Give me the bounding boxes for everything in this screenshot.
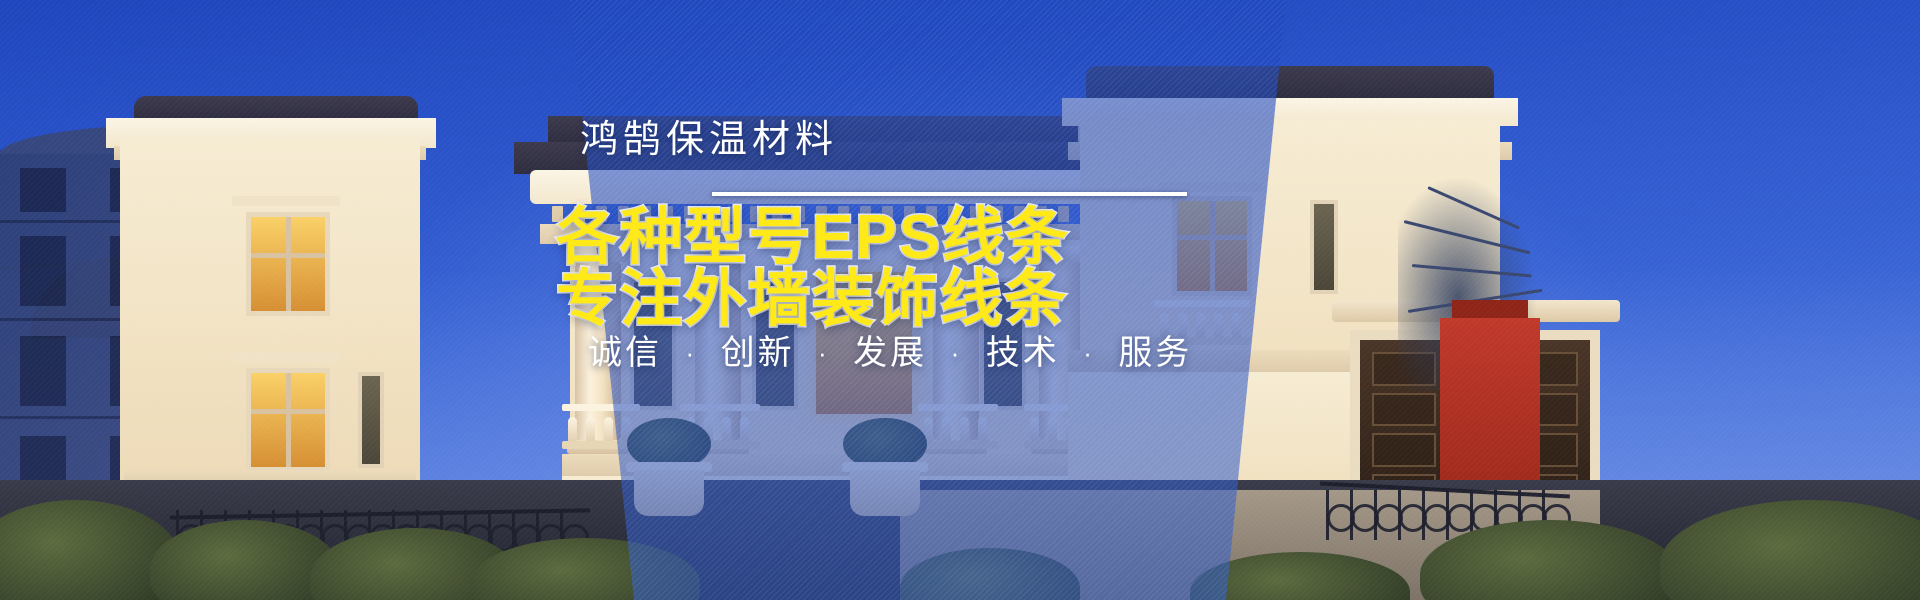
tagline-item-4: 技术 <box>986 334 1060 372</box>
tagline-separator: · <box>940 338 974 368</box>
tagline-separator: · <box>674 338 708 368</box>
tagline-item-5: 服务 <box>1118 334 1192 372</box>
promo-banner: 鸿鹄保温材料 各种型号EPS线条 专注外墙装饰线条 诚信 · 创新 · 发展 ·… <box>0 0 1920 600</box>
tagline: 诚信 · 创新 · 发展 · 技术 · 服务 <box>588 325 1192 374</box>
tagline-item-2: 创新 <box>721 334 795 372</box>
tagline-separator: · <box>807 338 841 368</box>
tagline-separator: · <box>1072 338 1106 368</box>
tagline-item-1: 诚信 <box>588 334 662 372</box>
banner-copy: 鸿鹄保温材料 各种型号EPS线条 专注外墙装饰线条 诚信 · 创新 · 发展 ·… <box>0 0 1920 600</box>
tagline-item-3: 发展 <box>853 334 927 372</box>
brand-name: 鸿鹄保温材料 <box>580 108 838 163</box>
